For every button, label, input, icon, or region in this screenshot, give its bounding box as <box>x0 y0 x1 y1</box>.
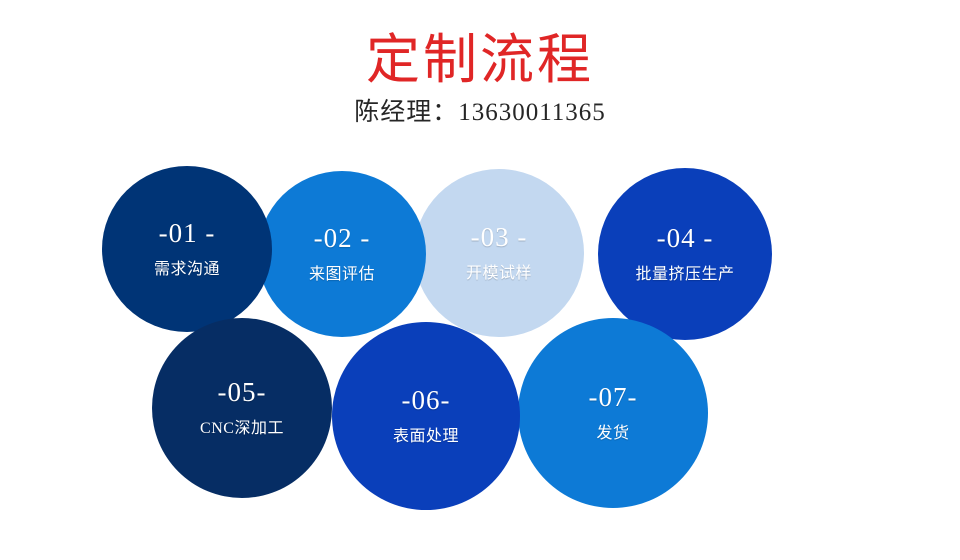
step-number: -06- <box>402 385 451 415</box>
process-step-2[interactable]: -02 - 来图评估 <box>258 171 426 337</box>
process-step-1[interactable]: -01 - 需求沟通 <box>102 166 272 332</box>
contact-subtitle: 陈经理：13630011365 <box>0 90 960 128</box>
step-label: 发货 <box>596 423 629 445</box>
step-number: -05- <box>218 377 267 407</box>
process-step-3[interactable]: -03 - 开模试样 <box>414 169 584 337</box>
step-label: 开模试样 <box>466 263 532 285</box>
header: 定制流程 陈经理：13630011365 <box>0 0 960 128</box>
step-number: -04 - <box>657 223 714 253</box>
step-number: -03 - <box>471 222 528 252</box>
slide-canvas: 定制流程 陈经理：13630011365 -01 - 需求沟通 -02 - 来图… <box>0 0 960 560</box>
process-step-7[interactable]: -07- 发货 <box>518 318 708 508</box>
step-number: -07- <box>589 382 638 412</box>
process-step-5[interactable]: -05- CNC深加工 <box>152 318 332 498</box>
step-label: 表面处理 <box>393 426 459 448</box>
process-step-6[interactable]: -06- 表面处理 <box>332 322 520 510</box>
step-number: -02 - <box>314 223 371 253</box>
page-title: 定制流程 <box>0 0 960 90</box>
step-label: 需求沟通 <box>154 259 220 281</box>
step-label: CNC深加工 <box>200 418 284 440</box>
process-step-4[interactable]: -04 - 批量挤压生产 <box>598 168 772 340</box>
step-label: 批量挤压生产 <box>635 264 734 286</box>
step-number: -01 - <box>159 218 216 248</box>
step-label: 来图评估 <box>309 264 375 286</box>
